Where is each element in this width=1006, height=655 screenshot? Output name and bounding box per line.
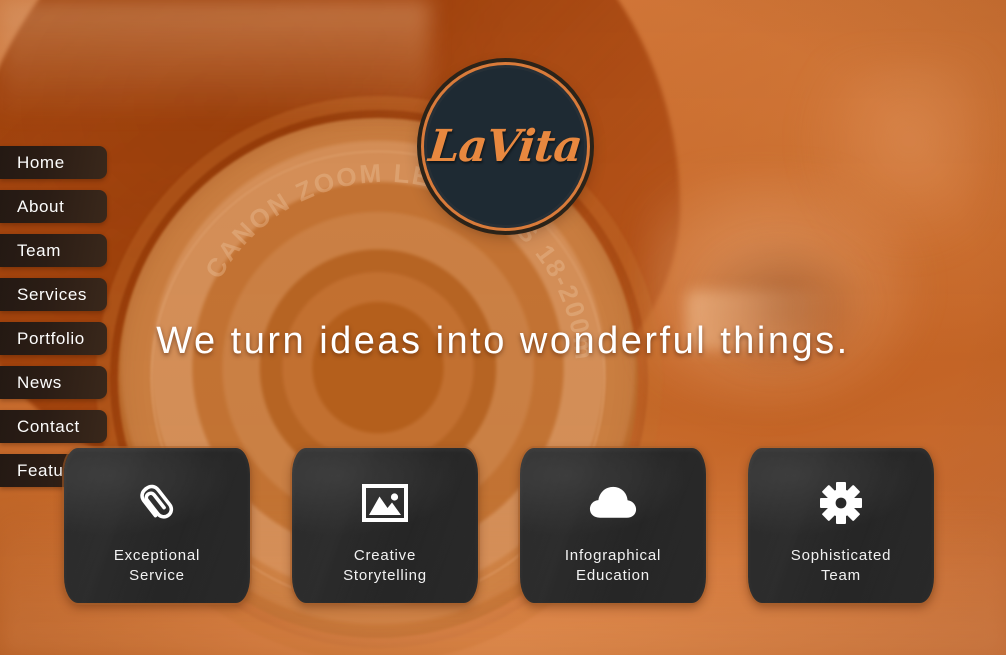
nav-item-label: Contact: [17, 417, 80, 437]
nav-item-team[interactable]: Team: [0, 234, 107, 267]
feature-card-infographical-education[interactable]: Infographical Education: [520, 448, 706, 603]
nav-item-news[interactable]: News: [0, 366, 107, 399]
nav-item-home[interactable]: Home: [0, 146, 107, 179]
feature-card-row: Exceptional Service Creative Storytellin…: [64, 448, 942, 603]
feature-card-title-line2: Education: [565, 566, 661, 586]
feature-card-title-line2: Team: [791, 566, 891, 586]
feature-card-title-line1: Exceptional: [114, 546, 200, 566]
feature-card-title: Infographical Education: [565, 546, 661, 586]
gear-icon: [817, 479, 865, 527]
main-navigation: Home About Team Services Portfolio News …: [0, 146, 107, 487]
nav-item-label: Home: [17, 153, 65, 173]
nav-item-contact[interactable]: Contact: [0, 410, 107, 443]
cloud-icon: [589, 479, 637, 527]
feature-card-title: Exceptional Service: [114, 546, 200, 586]
feature-card-sophisticated-team[interactable]: Sophisticated Team: [748, 448, 934, 603]
paperclip-icon: [133, 479, 181, 527]
nav-item-services[interactable]: Services: [0, 278, 107, 311]
nav-item-label: Team: [17, 241, 61, 261]
hero-tagline: We turn ideas into wonderful things.: [0, 320, 1006, 363]
site-logo-text: LaVita: [427, 121, 585, 172]
feature-card-exceptional-service[interactable]: Exceptional Service: [64, 448, 250, 603]
feature-card-title-line1: Sophisticated: [791, 546, 891, 566]
feature-card-title: Sophisticated Team: [791, 546, 891, 586]
feature-card-title-line1: Creative: [343, 546, 427, 566]
feature-card-creative-storytelling[interactable]: Creative Storytelling: [292, 448, 478, 603]
nav-item-label: Services: [17, 285, 87, 305]
image-icon: [361, 479, 409, 527]
feature-card-title-line1: Infographical: [565, 546, 661, 566]
feature-card-title: Creative Storytelling: [343, 546, 427, 586]
page-stage: CANON ZOOM LENS EF-S 18-200mm ø72mm Home…: [0, 0, 1006, 655]
nav-item-about[interactable]: About: [0, 190, 107, 223]
nav-item-label: About: [17, 197, 64, 217]
feature-card-title-line2: Storytelling: [343, 566, 427, 586]
feature-card-title-line2: Service: [114, 566, 200, 586]
nav-item-label: News: [17, 373, 62, 393]
site-logo[interactable]: LaVita: [424, 65, 587, 228]
